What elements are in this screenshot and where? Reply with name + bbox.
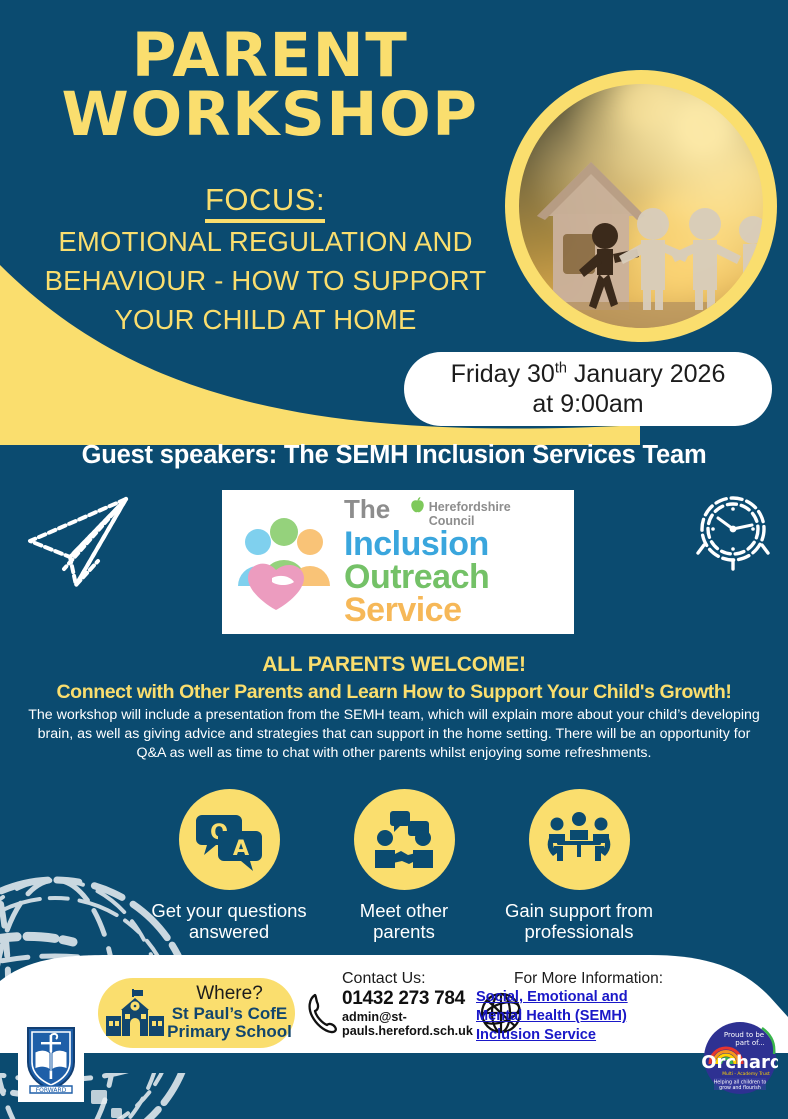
poster-root: PARENT WORKSHOP FOCUS: EMOTIONAL REGULAT… [0,0,788,1119]
feature-icon-circle [529,789,630,890]
people-talking-handshake-icon [371,809,437,871]
meeting-table-people-icon [546,810,612,870]
blurred-family-photo [519,84,763,328]
features-row: Q A Get your questions answered [0,789,788,959]
school-building-icon [106,988,164,1038]
people-heart-icon [230,508,338,616]
feature-item-meet-parents: Meet other parents [304,789,504,943]
trust-line-2: part of... [735,1039,765,1047]
logo-word-outreach: Outreach [344,561,511,594]
feature-label-line-1: Gain support from [479,900,679,921]
more-information-block: For More Information: Social, Emotional … [476,970,701,1045]
paper-plane-doodle-icon [18,485,136,590]
alarm-clock-doodle-icon [690,487,776,577]
herefordshire-council-mark: Herefordshire Council [409,497,511,528]
apple-icon [409,497,426,514]
trust-sub: Multi - Academy Trust [722,1071,770,1077]
focus-line-2: BEHAVIOUR - HOW TO SUPPORT [18,261,513,300]
date-time: at 9:00am [532,389,643,420]
trust-tagline-2: grow and flourish [719,1085,761,1091]
feature-label: Gain support from professionals [479,900,679,943]
feature-label-line-2: professionals [479,921,679,942]
email-line-1[interactable]: admin@st- [342,1010,481,1024]
connect-headline: Connect with Other Parents and Learn How… [0,681,788,704]
qa-speech-bubbles-icon: Q A [196,809,262,871]
focus-line-3: YOUR CHILD AT HOME [18,300,513,339]
logo-word-service: Service [344,594,511,627]
council-line-1: Herefordshire [429,500,511,514]
school-crest-icon: FORWARD [18,1018,84,1102]
feature-label: Meet other parents [304,900,504,943]
feature-label-line-2: parents [304,921,504,942]
feature-label-line-1: Get your questions [129,900,329,921]
more-info-label: For More Information: [476,970,701,988]
feature-item-professional-support: Gain support from professionals [479,789,679,943]
logo-word-inclusion: Inclusion [344,528,511,561]
trust-line-1: Proud to be [724,1031,764,1039]
phone-number[interactable]: 01432 273 784 [342,988,481,1010]
page-title: PARENT WORKSHOP [60,26,480,144]
contact-block: Contact Us: 01432 273 784 admin@st- paul… [306,970,481,1038]
where-pill: Where? St Paul’s CofE Primary School [98,978,295,1048]
body-paragraph: The workshop will include a presentation… [24,706,764,763]
email-line-2[interactable]: pauls.hereford.sch.uk [342,1024,481,1038]
logo-the: The [344,497,390,522]
focus-label-text: FOCUS: [205,182,325,223]
crest-motto: FORWARD [36,1087,67,1094]
semh-inclusion-service-link[interactable]: Social, Emotional and [476,988,701,1007]
feature-item-questions: Q A Get your questions answered [129,789,329,943]
semh-inclusion-service-link-line-3[interactable]: Inclusion Service [476,1026,701,1045]
trust-name: Orchard [702,1052,778,1073]
date-pill: Friday 30th January 2026 at 9:00am [404,352,772,426]
feature-label-line-2: answered [129,921,329,942]
school-name-line-1: St Paul’s CofE [164,1005,295,1023]
semh-inclusion-service-link-line-2[interactable]: Mental Health (SEMH) [476,1007,701,1026]
svg-text:A: A [233,836,250,860]
focus-description: EMOTIONAL REGULATION AND BEHAVIOUR - HOW… [18,222,513,339]
feature-label-line-1: Meet other [304,900,504,921]
feature-icon-circle: Q A [179,789,280,890]
contact-label: Contact Us: [342,970,481,988]
title-line-1: PARENT [60,26,480,85]
feature-label: Get your questions answered [129,900,329,943]
where-label: Where? [164,984,295,1005]
feature-icon-circle [354,789,455,890]
title-line-2: WORKSHOP [60,85,480,144]
school-name-line-2: Primary School [164,1023,295,1041]
all-parents-welcome: ALL PARENTS WELCOME! [0,653,788,677]
focus-label: FOCUS: [40,182,490,218]
date-month-year: January 2026 [567,360,725,388]
date-ordinal: th [555,360,567,376]
date-day: Friday 30 [451,360,555,388]
guest-speakers: Guest speakers: The SEMH Inclusion Servi… [0,441,788,470]
inclusion-outreach-service-logo: The Herefordshire Council Inclusion Outr… [219,487,577,637]
trust-tagline-1: Helping all children to [714,1080,767,1086]
focus-line-1: EMOTIONAL REGULATION AND [18,222,513,261]
date-line: Friday 30th January 2026 [451,359,726,390]
orchard-trust-logo: Proud to be part of... Orchard Multi - A… [702,1020,778,1096]
